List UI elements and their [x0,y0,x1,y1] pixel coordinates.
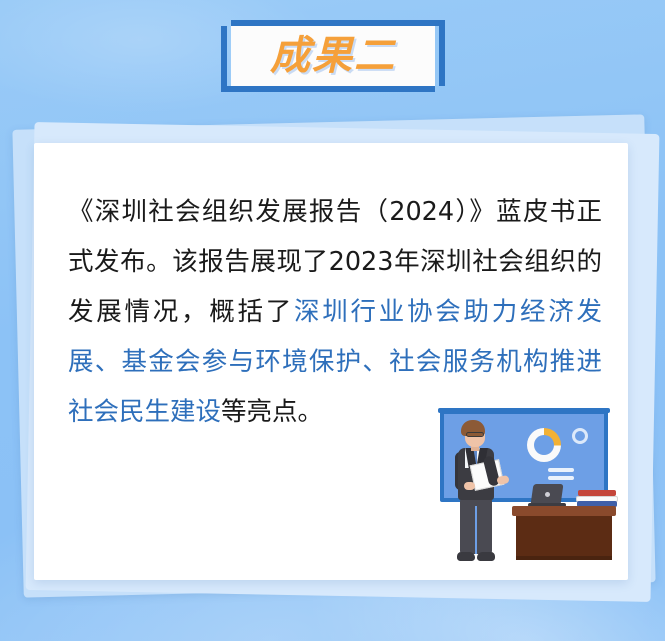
poster-canvas: 成果二 《深圳社会组织发展报告（2024）》蓝皮书正式发布。该报告展现了2023… [0,0,665,641]
badge-frame-right [439,20,445,86]
person-shoe-right [477,552,495,561]
person-leg-gap [475,506,477,554]
badge-frame-bottom [221,86,435,92]
donut-chart-hole [534,435,554,455]
presenter-illustration [420,406,616,574]
legend-bar-1-icon [548,468,574,472]
person-shoe-left [457,552,475,561]
badge-title: 成果二 [270,36,396,76]
badge-frame-left [221,26,227,92]
desk-base [516,556,612,560]
person-glasses-icon [466,432,484,437]
body-paragraph: 《深圳社会组织发展报告（2024）》蓝皮书正式发布。该报告展现了2023年深圳社… [68,187,602,437]
laptop-logo-dot [545,492,550,497]
content-card: 《深圳社会组织发展报告（2024）》蓝皮书正式发布。该报告展现了2023年深圳社… [34,143,628,580]
desk-body [516,516,612,556]
desk-top-surface [512,506,616,516]
header-badge: 成果二 [221,20,445,92]
small-ring-icon [572,428,588,444]
person-hand-left [464,482,475,490]
badge-inner-panel: 成果二 [231,26,435,86]
legend-bar-2-icon [548,476,574,480]
paragraph-segment-2: 等亮点。 [221,397,323,427]
